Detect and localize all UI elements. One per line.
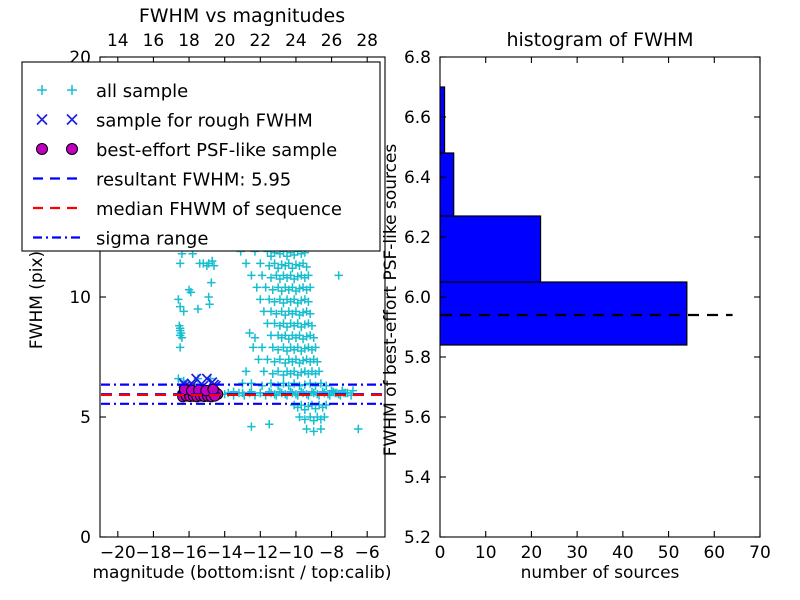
y-tick-label: 6.0 [404, 288, 431, 308]
left-plot-title: FWHM vs magnitudes [139, 5, 345, 27]
scatter-marker-plus [247, 271, 255, 279]
y-tick-label: 6.6 [404, 108, 431, 128]
scatter-points-group [174, 235, 362, 435]
legend-item-label: sample for rough FWHM [96, 111, 313, 132]
x-tick-label: 30 [566, 543, 588, 563]
x-tick-label: 60 [703, 543, 725, 563]
scatter-marker-plus [242, 259, 250, 267]
histogram-bar [440, 153, 454, 216]
y-tick-label: 0 [80, 528, 91, 548]
left-xaxis-label: magnitude (bottom:isnt / top:calib) [93, 563, 392, 583]
scatter-marker-plus [258, 382, 266, 390]
right-plot-title: histogram of FWHM [506, 29, 693, 51]
histogram-bar [440, 87, 445, 153]
y-tick-label: 5.2 [404, 528, 431, 548]
y-tick-label: 5.8 [404, 348, 431, 368]
legend-marker-dot [67, 144, 78, 155]
legend-item-label: median FHWM of sequence [96, 199, 342, 220]
scatter-marker-plus [251, 334, 259, 342]
scatter-marker-plus [354, 425, 362, 433]
legend-item-label: resultant FWHM: 5.95 [96, 170, 291, 191]
x-tick-label-bottom: −10 [278, 543, 314, 563]
scatter-marker-plus [242, 367, 250, 375]
x-tick-label-bottom: −14 [207, 543, 243, 563]
x-tick-label-bottom: −12 [242, 543, 278, 563]
x-tick-label-bottom: −20 [100, 543, 136, 563]
scatter-marker-plus [194, 305, 202, 313]
x-tick-label: 10 [475, 543, 497, 563]
scatter-marker-plus [176, 343, 184, 351]
scatter-marker-plus [238, 379, 246, 387]
right-yaxis-label: FWHM of best-effort PSF-like sources [381, 144, 401, 457]
left-yaxis-label: FWHM (pix) [27, 251, 47, 349]
right-panel: 0102030405060705.25.45.65.86.06.26.46.66… [381, 29, 771, 583]
scatter-marker-plus [253, 283, 261, 291]
scatter-marker-plus [265, 420, 273, 428]
histogram-bar [440, 216, 541, 282]
y-tick-label: 5.6 [404, 408, 431, 428]
x-tick-label: 70 [749, 543, 771, 563]
histogram-bars-group [440, 87, 687, 345]
figure-canvas: −20−18−16−14−12−10−8−6141618202224262805… [0, 0, 800, 600]
x-tick-label-top: 20 [214, 31, 236, 51]
y-tick-label: 6.8 [404, 48, 431, 68]
x-tick-label-top: 24 [285, 31, 307, 51]
scatter-marker-plus [205, 300, 213, 308]
scatter-marker-plus [254, 355, 262, 363]
scatter-marker-plus [247, 422, 255, 430]
scatter-marker-dot [208, 384, 218, 394]
x-tick-label-top: 14 [107, 31, 129, 51]
x-tick-label-bottom: −16 [171, 543, 207, 563]
legend-item-label: sigma range [96, 229, 208, 250]
scatter-marker-plus [204, 293, 212, 301]
scatter-marker-plus [207, 278, 215, 286]
y-tick-label: 6.2 [404, 228, 431, 248]
scatter-marker-plus [249, 343, 257, 351]
legend: all samplesample for rough FWHMbest-effo… [22, 62, 380, 251]
scatter-marker-plus [334, 271, 342, 279]
x-tick-label: 50 [658, 543, 680, 563]
x-tick-label-top: 16 [143, 31, 165, 51]
scatter-marker-plus [245, 329, 253, 337]
scatter-marker-plus [260, 367, 268, 375]
scatter-marker-plus [258, 271, 266, 279]
x-tick-label-top: 26 [321, 31, 343, 51]
x-tick-label: 20 [521, 543, 543, 563]
x-tick-label-bottom: −6 [355, 543, 380, 563]
y-tick-label: 5.4 [404, 468, 431, 488]
scatter-marker-plus [176, 259, 184, 267]
legend-marker-dot [37, 144, 48, 155]
scatter-marker-plus [258, 343, 266, 351]
x-tick-label: 40 [612, 543, 634, 563]
legend-item-label: best-effort PSF-like sample [96, 140, 337, 161]
y-tick-label: 10 [69, 288, 91, 308]
y-tick-label: 6.4 [404, 168, 431, 188]
scatter-marker-plus [247, 379, 255, 387]
x-tick-label-top: 28 [356, 31, 378, 51]
x-tick-label-bottom: −8 [319, 543, 344, 563]
scatter-marker-plus [256, 259, 264, 267]
scatter-marker-plus [174, 295, 182, 303]
scatter-marker-plus [256, 295, 264, 303]
y-tick-label: 5 [80, 408, 91, 428]
x-tick-label-top: 18 [178, 31, 200, 51]
legend-item-label: all sample [96, 81, 188, 102]
x-tick-label: 0 [435, 543, 446, 563]
x-tick-label-top: 22 [249, 31, 271, 51]
x-tick-label-bottom: −18 [135, 543, 171, 563]
right-xaxis-label: number of sources [521, 563, 680, 583]
histogram-bar [440, 282, 687, 345]
plot-svg: −20−18−16−14−12−10−8−6141618202224262805… [0, 0, 800, 600]
